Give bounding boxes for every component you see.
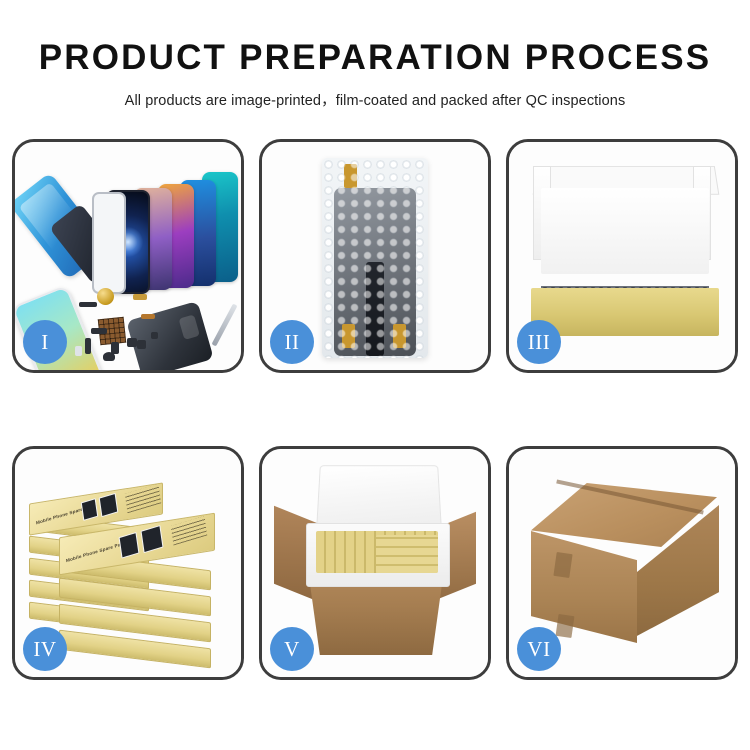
gold-tab-top [344,164,357,188]
inner-boxes-row-2 [376,535,438,573]
flex-cable [366,262,384,356]
foam-box-lid [316,465,442,530]
box-text-block-rear [125,484,161,513]
step-badge-3: III [517,320,561,364]
carton-front-face [531,531,637,643]
copper-coil-part [97,288,114,305]
step-badge-2: II [270,320,314,364]
carton-tape-lower [556,614,575,638]
page-title: PRODUCT PREPARATION PROCESS [0,40,750,77]
phone-back-housing [126,301,214,373]
carton-tape-upper [553,552,572,578]
page-header: PRODUCT PREPARATION PROCESS All products… [0,0,750,110]
box-swatch-front-1 [119,532,140,559]
step-badge-5: V [270,627,314,671]
step-card-4[interactable]: Mobile Phone Spare Parts Mobile Phone Sp… [12,446,244,680]
gold-tab-bottom-right [393,324,406,348]
yellow-box-body [531,288,719,336]
process-steps-grid: I II III [12,139,738,680]
phone-display-fan [93,170,238,292]
box-text-block-front [171,516,207,545]
box-label-front: Mobile Phone Spare Parts [66,540,128,563]
bubble-wrap-bag [322,158,428,358]
repair-tweezers-icon [211,304,237,347]
gold-tab-bottom-left [342,324,355,348]
blank-glass-panel [92,192,126,294]
box-swatch-rear-1 [81,498,98,521]
step-card-5[interactable]: V [259,446,491,680]
step-badge-4: IV [23,627,67,671]
step-card-1[interactable]: I [12,139,244,373]
box-swatch-front-2 [140,525,163,553]
box-swatch-rear-2 [99,493,119,517]
step-card-3[interactable]: III [506,139,738,373]
step-card-2[interactable]: II [259,139,491,373]
page-subtitle: All products are image-printed，film-coat… [0,89,750,110]
step-badge-1: I [23,320,67,364]
step-badge-6: VI [517,627,561,671]
white-foam-sheet [541,188,709,274]
step-card-6[interactable]: VI [506,446,738,680]
